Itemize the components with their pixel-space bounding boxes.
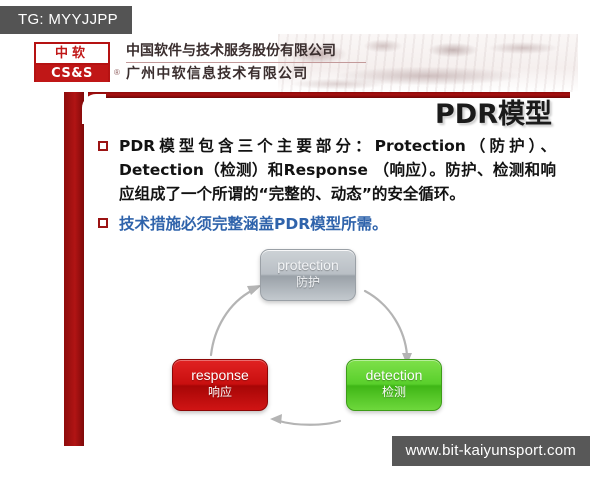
company-name-subsidiary: 广州中软信息技术有限公司 (126, 63, 366, 84)
arrowhead-detection-to-response (270, 414, 282, 424)
arrow-detection-to-response (279, 421, 340, 425)
cs-and-s-logo: 中软 CS&S (34, 42, 110, 82)
diagram-node-response[interactable]: response 响应 (172, 359, 268, 411)
square-bullet-icon (98, 218, 108, 228)
node-response-label-en: response (173, 367, 267, 384)
header-rule-end-cap (570, 92, 578, 98)
logo-chinese-text: 中软 (36, 44, 108, 65)
company-names: 中国软件与技术服务股份有限公司 广州中软信息技术有限公司 (126, 41, 366, 84)
band-rounded-corner (82, 94, 106, 124)
node-protection-label-en: protection (261, 257, 355, 274)
company-name-parent: 中国软件与技术服务股份有限公司 (126, 41, 366, 63)
bullet-list: PDR模型包含三个主要部分：Protection（防护）、Detection（检… (98, 134, 556, 242)
diagram-node-detection[interactable]: detection 检测 (346, 359, 442, 411)
left-red-band (64, 92, 84, 446)
square-bullet-icon (98, 141, 108, 151)
pdr-cycle-diagram: protection 防护 response 响应 detection 检测 (172, 249, 452, 429)
bullet-text-1: PDR模型包含三个主要部分：Protection（防护）、Detection（检… (119, 134, 556, 206)
bullet-text-2: 技术措施必须完整涵盖PDR模型所需。 (119, 212, 556, 236)
arrow-response-to-protection (211, 290, 253, 355)
registered-trademark-icon: ® (114, 68, 120, 77)
page-title: PDR模型 (435, 98, 552, 132)
bullet-item-1: PDR模型包含三个主要部分：Protection（防护）、Detection（检… (98, 134, 556, 206)
band-white-gap (84, 92, 88, 446)
logo-latin-text: CS&S (36, 65, 108, 82)
tg-watermark-tag: TG: MYYJJPP (0, 6, 132, 34)
slide-header: 中软 CS&S ® 中国软件与技术服务股份有限公司 广州中软信息技术有限公司 (22, 34, 578, 92)
presentation-slide: 中软 CS&S ® 中国软件与技术服务股份有限公司 广州中软信息技术有限公司 P… (22, 34, 578, 446)
arrow-protection-to-detection (365, 291, 407, 355)
diagram-node-protection[interactable]: protection 防护 (260, 249, 356, 301)
bullet-item-2: 技术措施必须完整涵盖PDR模型所需。 (98, 212, 556, 236)
node-protection-label-zh: 防护 (261, 274, 355, 290)
node-detection-label-zh: 检测 (347, 384, 441, 400)
node-response-label-zh: 响应 (173, 384, 267, 400)
node-detection-label-en: detection (347, 367, 441, 384)
site-watermark: www.bit-kaiyunsport.com (392, 436, 591, 466)
